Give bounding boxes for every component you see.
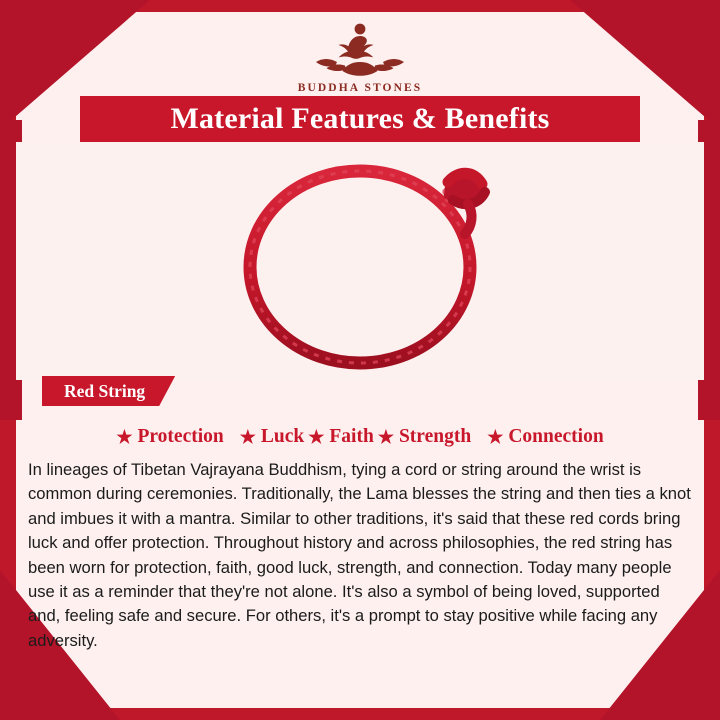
brand-name: BUDDHA STONES (298, 82, 423, 94)
star-icon: ★ (240, 428, 256, 446)
star-icon: ★ (378, 428, 394, 446)
benefit-item: ★ Protection (116, 426, 223, 448)
benefit-label: Connection (508, 426, 603, 448)
benefit-label: Faith (329, 426, 373, 448)
star-icon: ★ (487, 428, 503, 446)
description-text: In lineages of Tibetan Vajrayana Buddhis… (24, 458, 700, 653)
benefit-label: Luck (261, 426, 304, 448)
benefit-item: ★ Faith (308, 426, 374, 448)
benefit-item: ★ Strength (378, 426, 471, 448)
benefit-keyword-row: ★ Protection ★ Luck ★ Faith ★ Strength ★… (24, 420, 696, 454)
star-icon: ★ (116, 428, 132, 446)
material-label: Red String (64, 381, 145, 402)
benefit-label: Strength (399, 426, 471, 448)
page-title: Material Features & Benefits (170, 102, 549, 136)
star-icon: ★ (308, 428, 324, 446)
brand-logo: BUDDHA STONES (0, 18, 720, 94)
benefit-label: Protection (137, 426, 223, 448)
benefit-item: ★ Luck (240, 426, 305, 448)
infographic-page: BUDDHA STONES Material Features & Benefi… (0, 0, 720, 720)
product-image (16, 142, 704, 380)
benefit-item: ★ Connection (487, 426, 603, 448)
title-banner: Material Features & Benefits (80, 96, 640, 142)
material-label-ribbon: Red String (42, 376, 175, 406)
lotus-meditation-figure-icon (306, 18, 414, 80)
